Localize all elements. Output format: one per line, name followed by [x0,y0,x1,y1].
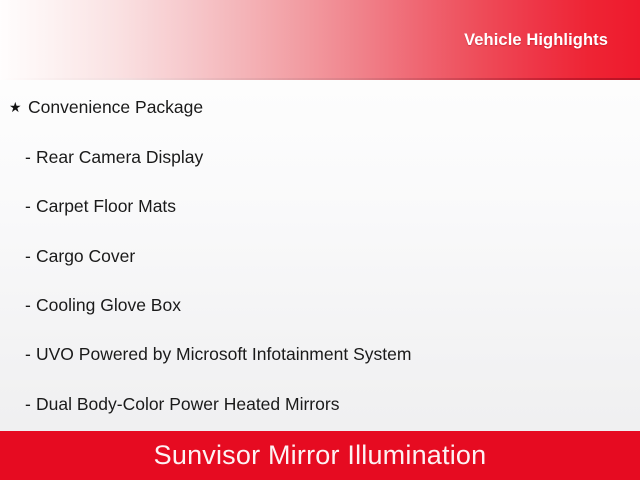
list-item-label: Rear Camera Display [36,144,203,170]
list-item-label: Cargo Cover [36,243,135,269]
dash-bullet-icon: - [25,292,31,318]
star-bullet-icon: ★ [9,94,22,120]
list-item-label: UVO Powered by Microsoft Infotainment Sy… [36,341,411,367]
list-item: - Rear Camera Display [0,144,640,170]
list-item-label: Cooling Glove Box [36,292,181,318]
feature-list: ★ Convenience Package - Rear Camera Disp… [0,80,640,431]
vehicle-highlights-slide: Vehicle Highlights ★ Convenience Package… [0,0,640,480]
list-item-label: Carpet Floor Mats [36,193,176,219]
list-item: - Cargo Cover [0,243,640,269]
page-title: Vehicle Highlights [464,31,608,50]
dash-bullet-icon: - [25,391,31,417]
list-item: - Dual Body-Color Power Heated Mirrors [0,391,640,417]
footer-title: Sunvisor Mirror Illumination [154,442,487,469]
list-item-label: Dual Body-Color Power Heated Mirrors [36,391,339,417]
dash-bullet-icon: - [25,193,31,219]
list-item: - Carpet Floor Mats [0,193,640,219]
list-item: - UVO Powered by Microsoft Infotainment … [0,341,640,367]
footer-banner: Sunvisor Mirror Illumination [0,431,640,480]
dash-bullet-icon: - [25,243,31,269]
header-banner: Vehicle Highlights [0,0,640,80]
dash-bullet-icon: - [25,144,31,170]
dash-bullet-icon: - [25,341,31,367]
list-item: - Cooling Glove Box [0,292,640,318]
list-item: ★ Convenience Package [0,94,640,120]
list-item-label: Convenience Package [28,94,203,120]
